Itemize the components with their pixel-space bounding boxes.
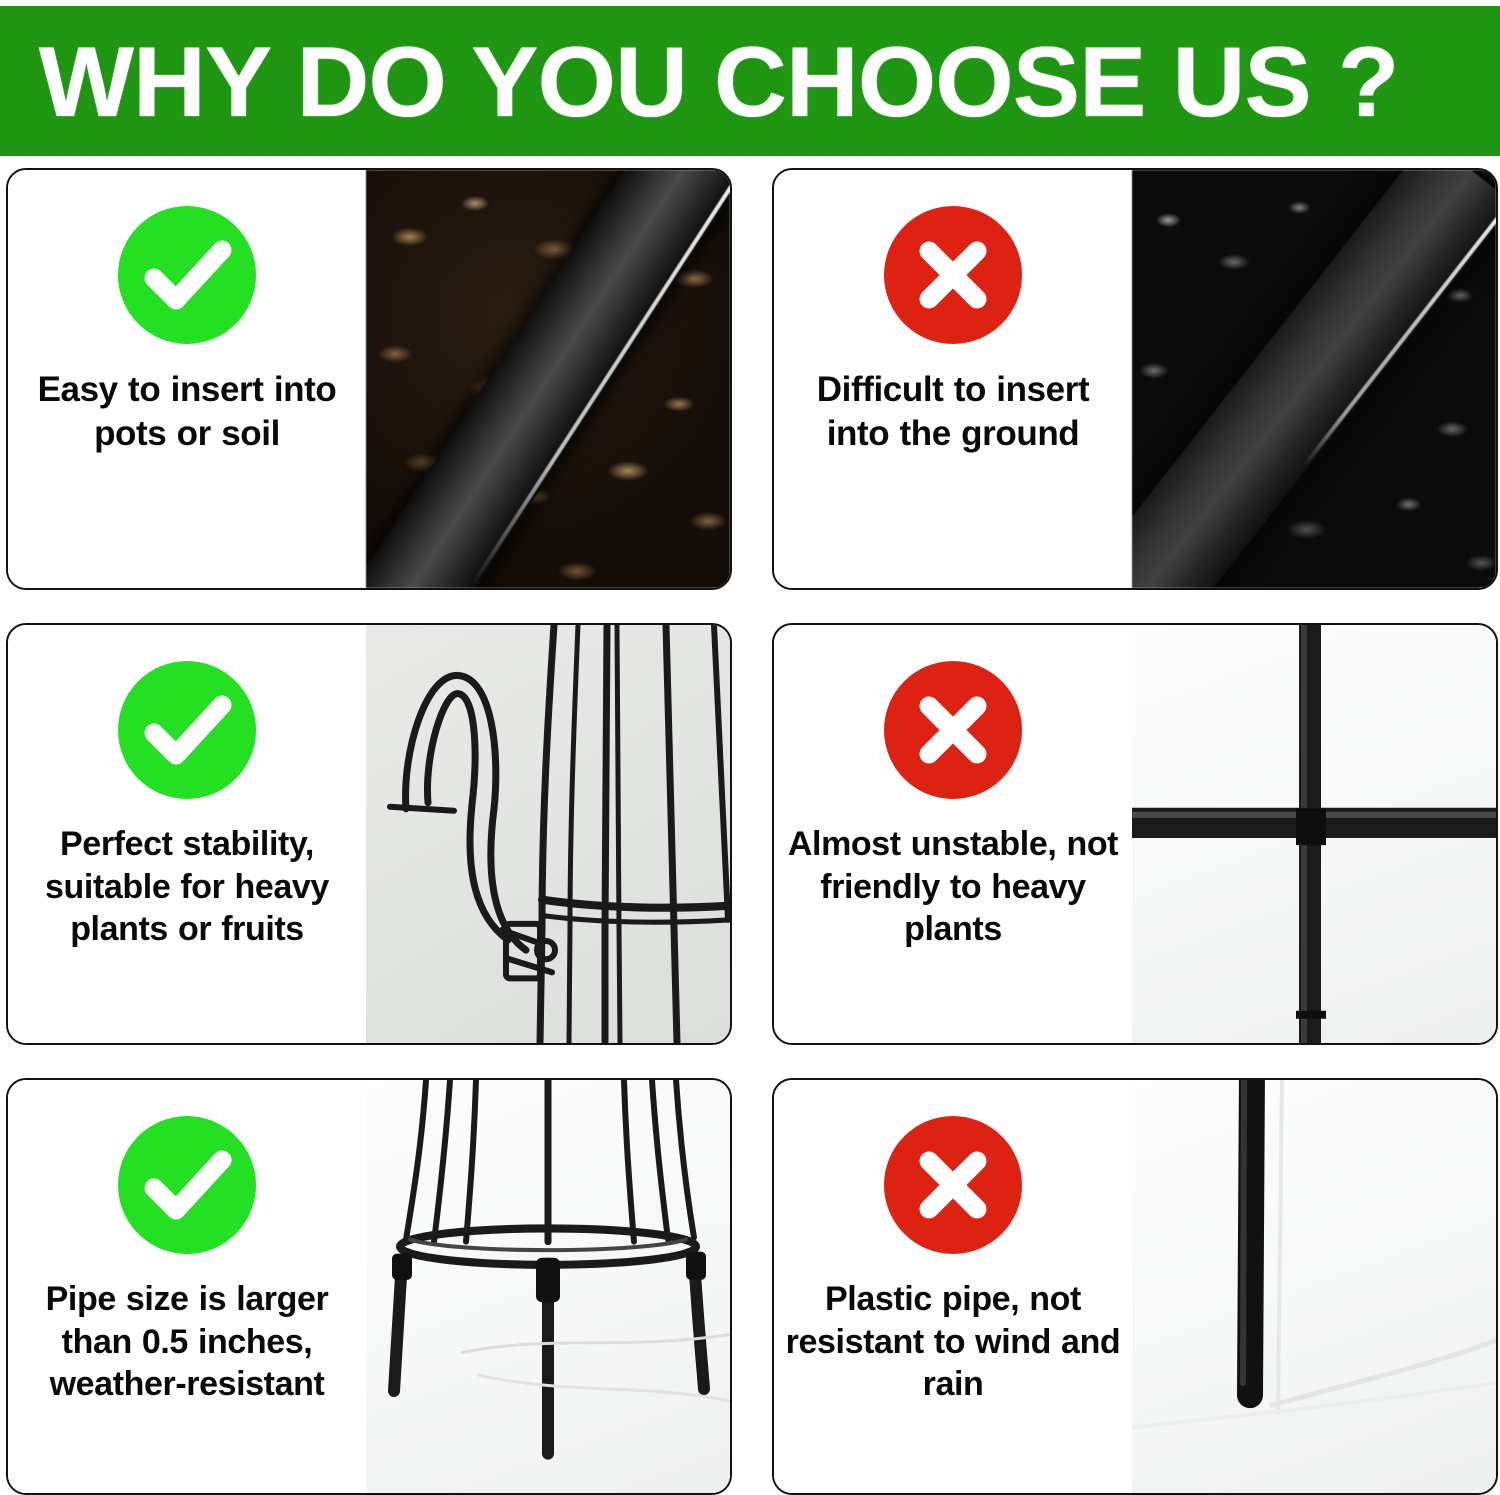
blunt-stake-in-dark-soil-photo [1132,170,1496,588]
benefit-card-2: Perfect stability, suitable for heavy pl… [6,623,732,1045]
card-4-icon-wrap [878,655,1028,805]
comparison-grid: Easy to insert into pots or soil Difficu… [0,168,1500,1491]
card-3-icon-wrap [112,655,262,805]
card-1-label: Easy to insert into pots or soil [19,368,355,456]
card-5-text-panel: Pipe size is larger than 0.5 inches, wea… [8,1080,366,1493]
card-1-text-panel: Easy to insert into pots or soil [8,170,366,588]
card-6-label: Plastic pipe, not resistant to wind and … [785,1278,1121,1406]
check-circle-icon [118,206,256,344]
drawback-card-2: Almost unstable, not friendly to heavy p… [772,623,1498,1045]
card-2-icon-wrap [878,200,1028,350]
card-2-label: Difficult to insert into the ground [785,368,1121,456]
benefit-card-3: Pipe size is larger than 0.5 inches, wea… [6,1078,732,1495]
card-1-icon-wrap [112,200,262,350]
header-banner: WHY DO YOU CHOOSE US ? [0,6,1500,156]
cross-joint-drawing [1132,625,1496,1043]
card-6-icon-wrap [878,1110,1028,1260]
page-title: WHY DO YOU CHOOSE US ? [0,32,1398,131]
check-circle-icon [118,1116,256,1254]
card-5-label: Pipe size is larger than 0.5 inches, wea… [19,1278,355,1406]
card-3-text-panel: Perfect stability, suitable for heavy pl… [8,625,366,1043]
card-3-label: Perfect stability, suitable for heavy pl… [19,823,355,951]
card-6-text-panel: Plastic pipe, not resistant to wind and … [774,1080,1132,1493]
cross-circle-icon [884,206,1022,344]
plastic-pipe-drawing [1132,1080,1496,1493]
card-5-icon-wrap [112,1110,262,1260]
thin-pipe-cross-joint-photo [1132,625,1496,1043]
wire-trellis-drawing [366,625,730,1043]
trellis-base-ring-legs-photo [366,1080,730,1493]
infographic-page: WHY DO YOU CHOOSE US ? Easy to insert in… [0,0,1500,1491]
cross-circle-icon [884,1116,1022,1254]
trellis-base-drawing [366,1080,730,1493]
metal-rod-shape [366,170,730,588]
single-plastic-pipe-photo [1132,1080,1496,1493]
card-4-label: Almost unstable, not friendly to heavy p… [785,823,1121,951]
benefit-card-1: Easy to insert into pots or soil [6,168,732,590]
metal-rod-in-brown-soil-photo [366,170,730,588]
drawback-card-3: Plastic pipe, not resistant to wind and … [772,1078,1498,1495]
blunt-stake-shape [1132,170,1496,588]
cross-circle-icon [884,661,1022,799]
card-2-text-panel: Difficult to insert into the ground [774,170,1132,588]
wire-trellis-hook-joint-photo [366,625,730,1043]
drawback-card-1: Difficult to insert into the ground [772,168,1498,590]
check-circle-icon [118,661,256,799]
card-4-text-panel: Almost unstable, not friendly to heavy p… [774,625,1132,1043]
